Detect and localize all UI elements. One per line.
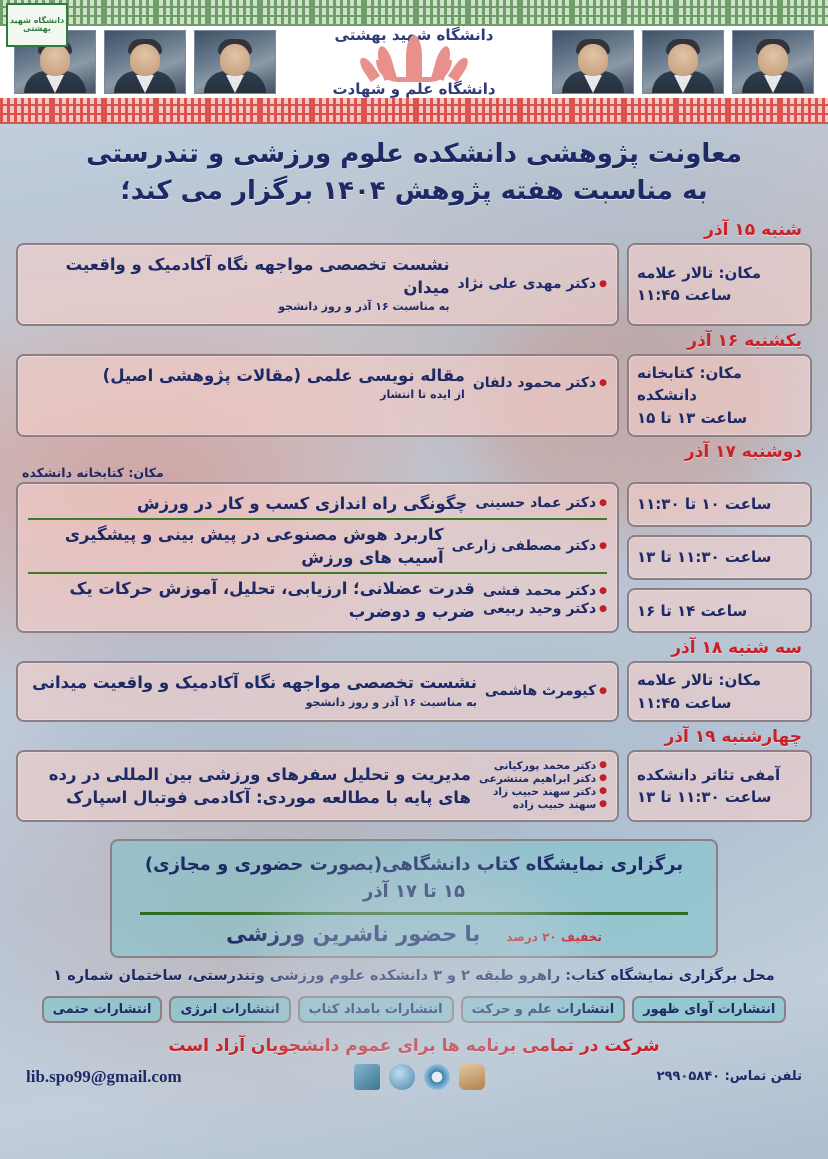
day-row: مکان: کتابخانه دانشکده ساعت ۱۳ تا ۱۵ دکت… [16,354,812,438]
day-block: شنبه ۱۵ آذر مکان: تالار علامه ساعت ۱۱:۴۵… [16,218,812,326]
day-place-label: مکان: کتابخانه دانشکده [16,465,812,482]
topic-card: کیومرث هاشمی نشست تخصصی مواجهه نگاه آکاد… [16,661,619,722]
speaker-name: دکتر سهند حبیب زاد [479,786,607,799]
title-line-2: به مناسبت هفته پژوهش ۱۴۰۴ برگزار می کند؛ [34,173,794,210]
session-slot: دکتر محمد پورکیانی دکتر ابراهیم منتشرعی … [28,757,607,814]
session-slot: دکتر محمود دلفان مقاله نویسی علمی (مقالا… [28,361,607,407]
speaker-name: دکتر ابراهیم منتشرعی [479,773,607,786]
iran-emblem-icon [368,45,460,79]
topic-subtext: به مناسبت ۱۶ آذر و روز دانشجو [28,695,477,712]
time-label: ساعت ۱۱:۳۰ تا ۱۳ [637,546,802,569]
topic-card: دکتر عماد حسینی چگونگی راه اندازی کسب و … [16,482,619,633]
speaker-name: سهند حبیب زاده [479,799,607,812]
poster-header: دانشگاه شهید بهشتی دانشگاه شهید بهشتی دا… [0,0,828,124]
topic-card: دکتر محمود دلفان مقاله نویسی علمی (مقالا… [16,354,619,438]
poster-title: معاونت پژوهشی دانشکده علوم ورزشی و تندرس… [0,124,828,214]
topic-subtext: به مناسبت ۱۶ آذر و روز دانشجو [28,299,450,316]
contact-email: lib.spo99@gmail.com [26,1067,182,1087]
event-poster: دانشگاه شهید بهشتی دانشگاه شهید بهشتی دا… [0,0,828,1159]
topic-text: مدیریت و تحلیل سفرهای ورزشی بین المللی د… [49,765,471,807]
federation-icon [424,1064,450,1090]
session-slot: دکتر مهدی علی نژاد نشست تخصصی مواجهه نگا… [28,250,607,319]
day-block: دوشنبه ۱۷ آذر مکان: کتابخانه دانشکده ساع… [16,440,812,633]
speaker-list: دکتر عماد حسینی [475,494,607,512]
topic-card: دکتر مهدی علی نژاد نشست تخصصی مواجهه نگا… [16,243,619,326]
publisher-tag: انتشارات بامداد کتاب [298,996,454,1023]
session-slot: دکتر عماد حسینی چگونگی راه اندازی کسب و … [28,489,607,518]
day-row: مکان: تالار علامه ساعت ۱۱:۴۵ کیومرث هاشم… [16,661,812,722]
time-label: ساعت ۱۰ تا ۱۱:۳۰ [637,493,802,516]
session-topic: نشست تخصصی مواجهه نگاه آکادمیک و واقعیت … [28,253,450,316]
speaker-list: دکتر محمد پورکیانی دکتر ابراهیم منتشرعی … [479,760,607,811]
time-card: ساعت ۱۱:۳۰ تا ۱۳ [627,535,812,580]
book-expo-card: برگزاری نمایشگاه کتاب دانشگاهی(بصورت حضو… [110,839,718,958]
session-slot: کیومرث هاشمی نشست تخصصی مواجهه نگاه آکاد… [28,668,607,714]
footer-bar: تلفن تماس: ۲۹۹۰۵۸۴۰ lib.spo99@gmail.com [0,1056,828,1090]
session-topic: مقاله نویسی علمی (مقالات پژوهشی اصیل) از… [28,364,465,404]
speaker-list: دکتر مهدی علی نژاد [458,275,607,293]
place-time-card: مکان: تالار علامه ساعت ۱۱:۴۵ [627,661,812,722]
day-row: ساعت ۱۰ تا ۱۱:۳۰ ساعت ۱۱:۳۰ تا ۱۳ ساعت ۱… [16,482,812,633]
expo-line-3: با حضور ناشرین ورزشی [226,922,480,946]
session-topic: مدیریت و تحلیل سفرهای ورزشی بین المللی د… [28,763,471,809]
publisher-tag: انتشارات انرژی [169,996,290,1023]
place-time-card: مکان: تالار علامه ساعت ۱۱:۴۵ [627,243,812,326]
seal-label: دانشگاه شهید بهشتی [8,17,66,33]
day-title: سه شنبه ۱۸ آذر [16,636,812,661]
place-label: آمفی تئاتر دانشکده [637,764,802,787]
session-slot: دکتر محمد فشی دکتر وحید ربیعی قدرت عضلان… [28,572,607,626]
session-topic: نشست تخصصی مواجهه نگاه آکادمیک و واقعیت … [28,671,477,711]
expo-divider [140,912,688,915]
day-title: شنبه ۱۵ آذر [16,218,812,243]
place-label: مکان: تالار علامه [637,669,802,692]
speaker-list: کیومرث هاشمی [485,682,607,700]
place-time-card: مکان: کتابخانه دانشکده ساعت ۱۳ تا ۱۵ [627,354,812,438]
schedule: شنبه ۱۵ آذر مکان: تالار علامه ساعت ۱۱:۴۵… [0,214,828,822]
time-label: ساعت ۱۳ تا ۱۵ [637,407,802,430]
header-center: دانشگاه شهید بهشتی دانشگاه علم و شهادت [0,26,828,98]
university-seal-icon: دانشگاه شهید بهشتی [6,3,68,47]
day-row: مکان: تالار علامه ساعت ۱۱:۴۵ دکتر مهدی ع… [16,243,812,326]
session-topic: چگونگی راه اندازی کسب و کار در ورزش [28,492,467,515]
session-topic: قدرت عضلانی؛ ارزیابی، تحلیل، آموزش حرکات… [28,577,475,623]
expo-line-3-row: تخفیف ۲۰ درصد با حضور ناشرین ورزشی [126,922,702,946]
day-block: چهارشنبه ۱۹ آذر آمفی تئاتر دانشکده ساعت … [16,725,812,821]
contact-phone: تلفن تماس: ۲۹۹۰۵۸۴۰ [657,1069,802,1084]
speaker-name: دکتر عماد حسینی [475,494,607,512]
expo-discount-badge: تخفیف ۲۰ درصد [506,930,602,944]
publisher-tag: انتشارات آوای ظهور [632,996,786,1023]
publisher-tag: انتشارات حتمی [42,996,163,1023]
speaker-name: دکتر مهدی علی نژاد [458,275,607,293]
time-label: ساعت ۱۱:۴۵ [637,284,802,307]
time-card: ساعت ۱۰ تا ۱۱:۳۰ [627,482,812,527]
topic-card: دکتر محمد پورکیانی دکتر ابراهیم منتشرعی … [16,750,619,821]
topic-text: چگونگی راه اندازی کسب و کار در ورزش [137,494,467,513]
speaker-name: دکتر وحید ربیعی [483,600,607,618]
organization-icon [354,1064,380,1090]
mascot-icon [459,1064,485,1090]
speaker-name: دکتر مصطفی زارعی [452,537,607,555]
day-title: چهارشنبه ۱۹ آذر [16,725,812,750]
topic-text: نشست تخصصی مواجهه نگاه آکادمیک و واقعیت … [32,673,477,692]
place-time-card: آمفی تئاتر دانشکده ساعت ۱۱:۳۰ تا ۱۳ [627,750,812,821]
day-row: آمفی تئاتر دانشکده ساعت ۱۱:۳۰ تا ۱۳ دکتر… [16,750,812,821]
topic-text: نشست تخصصی مواجهه نگاه آکادمیک و واقعیت … [66,255,450,297]
title-line-1: معاونت پژوهشی دانشکده علوم ورزشی و تندرس… [34,136,794,173]
expo-venue-text: محل برگزاری نمایشگاه کتاب: راهرو طبقه ۲ … [0,958,828,984]
speaker-list: دکتر محمود دلفان [473,374,607,392]
publisher-tag: انتشارات علم و حرکت [461,996,626,1023]
topic-text: قدرت عضلانی؛ ارزیابی، تحلیل، آموزش حرکات… [70,579,475,621]
time-stack: ساعت ۱۰ تا ۱۱:۳۰ ساعت ۱۱:۳۰ تا ۱۳ ساعت ۱… [627,482,812,633]
topic-text: کاربرد هوش مصنوعی در پیش بینی و پیشگیری … [65,525,444,567]
time-card: ساعت ۱۴ تا ۱۶ [627,588,812,633]
place-label: مکان: کتابخانه دانشکده [637,362,802,407]
speaker-list: دکتر محمد فشی دکتر وحید ربیعی [483,582,607,619]
speaker-name: دکتر محمد پورکیانی [479,760,607,773]
header-band-green [0,0,828,26]
expo-line-2: ۱۵ تا ۱۷ آذر [126,878,702,905]
session-slot: دکتر مصطفی زارعی کاربرد هوش مصنوعی در پی… [28,518,607,572]
place-label: مکان: تالار علامه [637,262,802,285]
header-band-pink [0,98,828,124]
speaker-name: کیومرث هاشمی [485,682,607,700]
day-title: دوشنبه ۱۷ آذر [16,440,812,465]
book-expo-section: برگزاری نمایشگاه کتاب دانشگاهی(بصورت حضو… [0,825,828,958]
university-name-bottom: دانشگاه علم و شهادت [332,80,495,98]
speaker-name: دکتر محمد فشی [483,582,607,600]
time-label: ساعت ۱۴ تا ۱۶ [637,600,802,623]
globe-icon [389,1064,415,1090]
day-block: سه شنبه ۱۸ آذر مکان: تالار علامه ساعت ۱۱… [16,636,812,722]
time-label: ساعت ۱۱:۳۰ تا ۱۳ [637,786,802,809]
footer-note: شرکت در تمامی برنامه ها برای عموم دانشجو… [0,1023,828,1056]
topic-text: مقاله نویسی علمی (مقالات پژوهشی اصیل) [103,366,465,385]
speaker-name: دکتر محمود دلفان [473,374,607,392]
day-title: یکشنبه ۱۶ آذر [16,329,812,354]
session-topic: کاربرد هوش مصنوعی در پیش بینی و پیشگیری … [28,523,444,569]
topic-subtext: از ایده تا انتشار [28,387,465,404]
header-inner: دانشگاه شهید بهشتی دانشگاه علم و شهادت [0,26,828,98]
publishers-list: انتشارات آوای ظهور انتشارات علم و حرکت ا… [0,984,828,1023]
expo-line-1: برگزاری نمایشگاه کتاب دانشگاهی(بصورت حضو… [126,851,702,878]
time-label: ساعت ۱۱:۴۵ [637,692,802,715]
speaker-list: دکتر مصطفی زارعی [452,537,607,555]
footer-logos [354,1064,485,1090]
day-block: یکشنبه ۱۶ آذر مکان: کتابخانه دانشکده ساع… [16,329,812,438]
